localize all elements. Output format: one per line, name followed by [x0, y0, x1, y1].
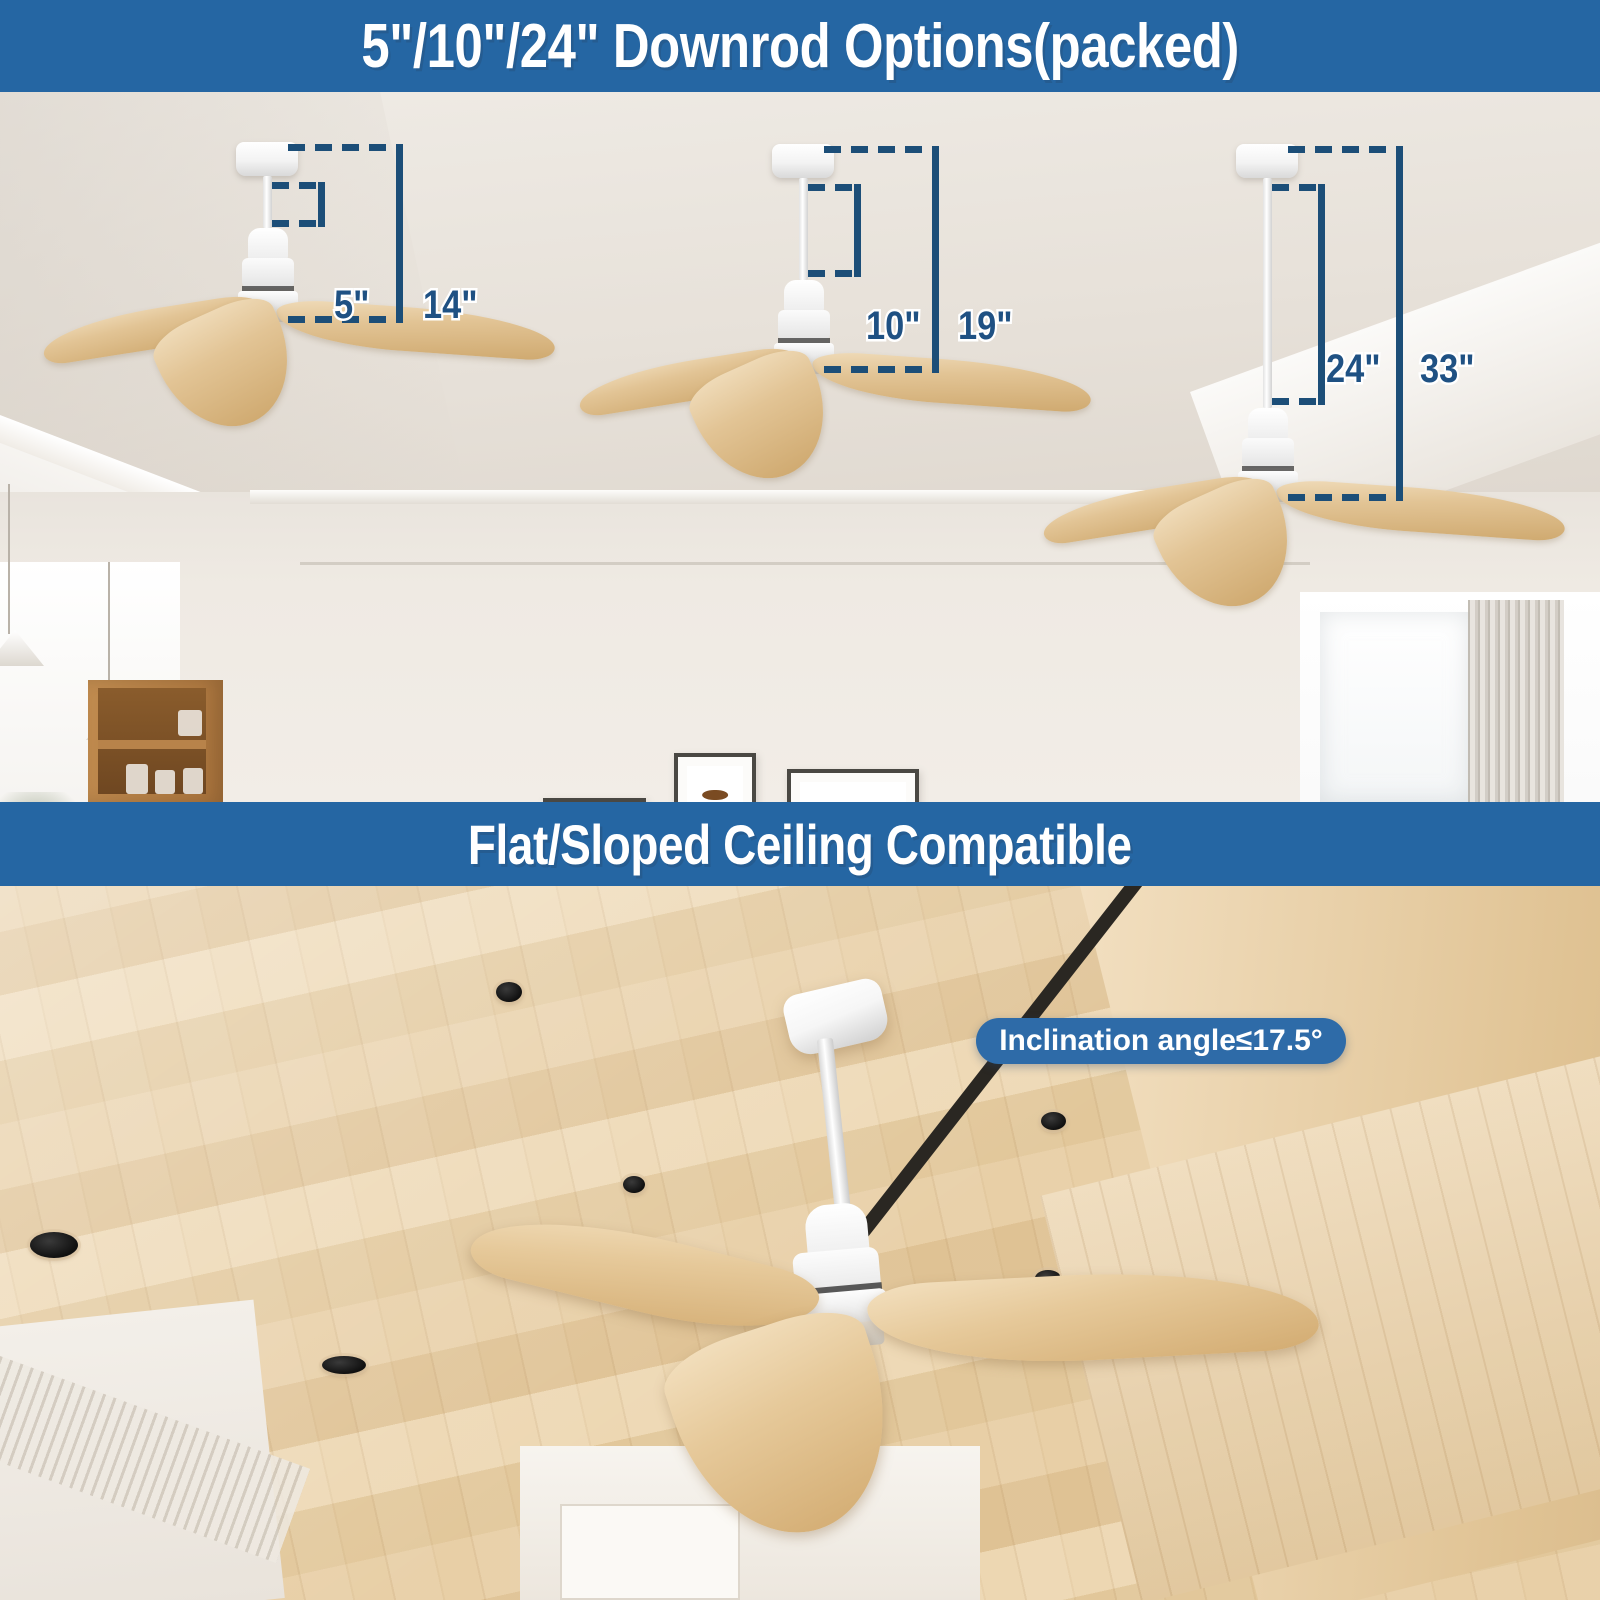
- wall-shadow-line: [300, 562, 1310, 565]
- wall-panel: [560, 1504, 740, 1600]
- shelf-jar-4: [183, 768, 203, 794]
- shelf-jar-3: [155, 770, 175, 794]
- dim-total-line-2: [932, 146, 939, 373]
- dim-label-total-3: 33": [1420, 347, 1475, 392]
- dim-top-dash-3: [1288, 146, 1403, 153]
- fan-motor-lower: [242, 258, 294, 288]
- art-brown-blob: [702, 790, 728, 801]
- plant-left: [0, 792, 90, 802]
- fan-motor-lower: [778, 310, 830, 340]
- art-mat-3: [800, 782, 906, 802]
- inclination-angle-text: Inclination angle≤17.5°: [999, 1024, 1323, 1058]
- banner-downrod-options: 5"/10"/24" Downrod Options(packed): [0, 0, 1600, 92]
- banner-middle-title: Flat/Sloped Ceiling Compatible: [468, 812, 1132, 877]
- dim-bottom-dash-2: [824, 366, 939, 373]
- dim-rod-bottom-dash-2: [808, 270, 860, 277]
- infographic-page: 5"/10"/24" Downrod Options(packed): [0, 0, 1600, 1600]
- dim-label-downrod-3: 24": [1326, 347, 1381, 392]
- dim-rod-bottom-dash-3: [1272, 398, 1324, 405]
- dim-rod-top-dash-3: [1272, 184, 1324, 191]
- dim-label-downrod-1: 5": [334, 283, 369, 328]
- recessed-downlight: [1041, 1112, 1066, 1130]
- fan-downrod: [1263, 178, 1272, 408]
- inclination-angle-badge: Inclination angle≤17.5°: [976, 1018, 1346, 1064]
- shelf-divider: [98, 740, 206, 749]
- fan-motor-upper: [1248, 408, 1288, 442]
- dim-top-dash-2: [824, 146, 939, 153]
- fan-motor-lower: [1242, 438, 1294, 468]
- dim-bottom-dash-3: [1288, 494, 1403, 501]
- fan-motor-upper: [248, 228, 288, 262]
- dim-label-total-1: 14": [423, 283, 478, 328]
- dim-top-dash-1: [288, 144, 403, 151]
- recessed-downlight: [322, 1356, 366, 1374]
- shelf-jar-1: [178, 710, 202, 736]
- dim-rod-line-3: [1318, 184, 1325, 405]
- fan-motor-upper: [784, 280, 824, 314]
- recessed-downlight: [623, 1176, 645, 1193]
- dim-total-line-1: [396, 144, 403, 323]
- fan-downrod: [263, 176, 272, 228]
- window-glass: [1320, 612, 1470, 802]
- shelf-jar-2: [126, 764, 148, 794]
- recessed-downlight: [30, 1232, 78, 1258]
- art-frame-2: [674, 753, 756, 802]
- dim-rod-line-2: [854, 184, 861, 277]
- banner-top-title: 5"/10"/24" Downrod Options(packed): [361, 11, 1239, 82]
- dim-label-downrod-2: 10": [866, 304, 921, 349]
- window-curtain: [1468, 600, 1564, 802]
- art-mat-2: [687, 766, 743, 802]
- banner-ceiling-compatible: Flat/Sloped Ceiling Compatible: [0, 802, 1600, 886]
- dim-rod-line-1: [318, 182, 325, 227]
- dim-total-line-3: [1396, 146, 1403, 501]
- plant-right: [1330, 792, 1600, 802]
- scene-sloped-ceiling: Inclination angle≤17.5°: [0, 886, 1600, 1600]
- scene-flat-ceiling: 5" 14" 10" 19": [0, 92, 1600, 802]
- dim-rod-top-dash-2: [808, 184, 860, 191]
- dim-rod-bottom-dash-1: [272, 220, 324, 227]
- pendant-cord-1: [8, 484, 10, 634]
- recessed-downlight: [496, 982, 522, 1002]
- dim-label-total-2: 19": [958, 304, 1013, 349]
- fan-downrod: [799, 178, 808, 280]
- art-frame-3: [787, 769, 919, 802]
- dim-rod-top-dash-1: [272, 182, 324, 189]
